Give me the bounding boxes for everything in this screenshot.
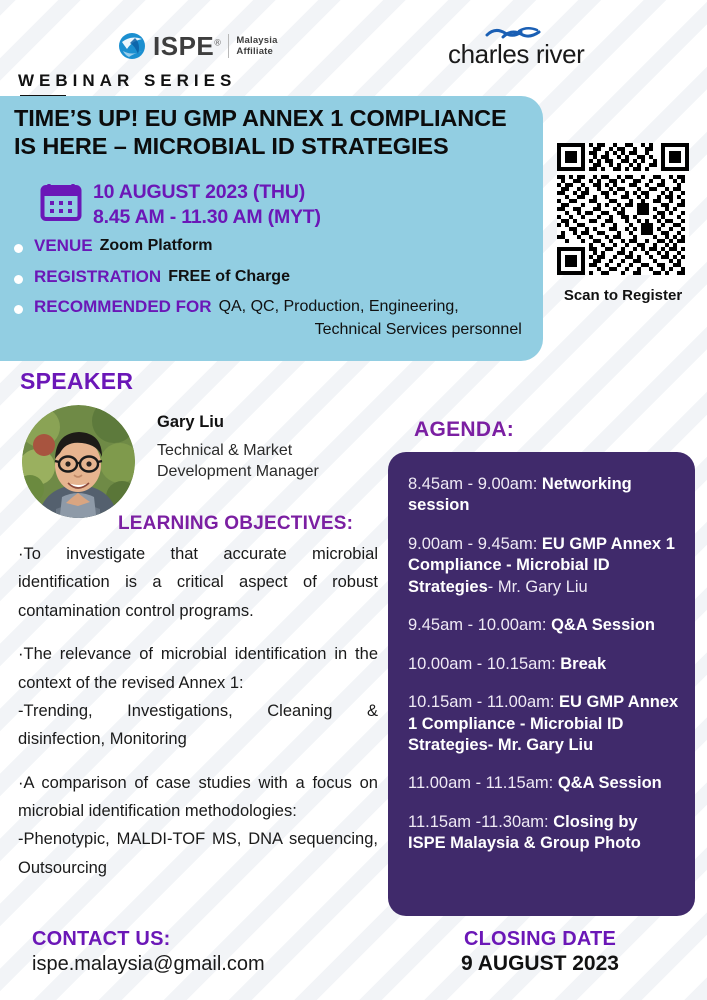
agenda-item: 11.00am - 11.15am: Q&A Session (408, 773, 679, 794)
info-row-venue: VENUE Zoom Platform (14, 234, 539, 259)
closing-date-heading: CLOSING DATE (400, 928, 680, 951)
bullet-icon (14, 305, 23, 314)
agenda-item: 9.00am - 9.45am: EU GMP Annex 1 Complian… (408, 534, 679, 598)
objective-item: ·To investigate that accurate microbial … (18, 540, 378, 625)
wave-icon (448, 26, 584, 40)
info-label-registration: REGISTRATION (34, 265, 161, 290)
info-row-registration: REGISTRATION FREE of Charge (14, 265, 539, 290)
ispe-affiliate-text: Malaysia Affiliate (236, 35, 277, 57)
agenda-time: 10.15am - 11.00am: (408, 693, 554, 711)
agenda-item: 10.15am - 11.00am: EU GMP Annex 1 Compli… (408, 692, 679, 756)
qr-caption: Scan to Register (557, 287, 689, 304)
agenda-time: 8.45am - 9.00am: (408, 475, 537, 493)
bullet-icon (14, 275, 23, 284)
objective-item: -Trending, Investigations, Cleaning & di… (18, 697, 378, 754)
ispe-logo: ISPE® Malaysia Affiliate (118, 32, 278, 60)
agenda-time: 10.00am - 10.15am: (408, 655, 556, 673)
contact-heading: CONTACT US: (32, 928, 170, 951)
flyer-page: ISPE® Malaysia Affiliate charles river W… (0, 0, 707, 1000)
agenda-time: 9.00am - 9.45am: (408, 535, 537, 553)
qr-code[interactable] (557, 143, 689, 275)
objective-item: -Phenotypic, MALDI-TOF MS, DNA sequencin… (18, 825, 378, 882)
speaker-heading: SPEAKER (20, 368, 133, 395)
closing-date-value: 9 AUGUST 2023 (400, 952, 680, 976)
agenda-item: 9.45am - 10.00am: Q&A Session (408, 615, 679, 636)
objective-item: ·A comparison of case studies with a foc… (18, 769, 378, 826)
agenda-time: 9.45am - 10.00am: (408, 616, 547, 634)
calendar-icon (40, 182, 82, 222)
charles-river-logo: charles river (448, 26, 584, 67)
ispe-wordmark: ISPE® (153, 33, 221, 59)
agenda-panel: 8.45am - 9.00am: Networking session 9.00… (388, 452, 695, 916)
ispe-registered-mark: ® (214, 37, 221, 47)
agenda-item: 11.15am -11.30am: Closing by ISPE Malays… (408, 812, 679, 855)
charles-river-wordmark: charles river (448, 41, 584, 67)
objective-item: ·The relevance of microbial identificati… (18, 640, 378, 697)
info-label-recommended: RECOMMENDED FOR (34, 295, 212, 320)
agenda-item: 10.00am - 10.15am: Break (408, 654, 679, 675)
learning-objectives-body: ·To investigate that accurate microbial … (18, 540, 378, 882)
info-value-venue: Zoom Platform (100, 234, 213, 257)
info-value-registration: FREE of Charge (168, 265, 290, 288)
agenda-time: 11.00am - 11.15am: (408, 774, 553, 792)
webinar-series-label: WEBINAR SERIES (18, 71, 236, 91)
agenda-heading: AGENDA: (414, 418, 514, 442)
learning-objectives-heading: LEARNING OBJECTIVES: (118, 513, 353, 535)
speaker-name: Gary Liu (157, 413, 224, 432)
info-row-recommended: RECOMMENDED FOR QA, QC, Production, Engi… (14, 295, 539, 341)
speaker-avatar (22, 405, 135, 518)
logo-bar: ISPE® Malaysia Affiliate charles river (0, 16, 707, 68)
info-value-recommended-line2: Technical Services personnel (219, 318, 522, 341)
info-value-recommended: QA, QC, Production, Engineering, Technic… (219, 295, 522, 341)
qr-block: Scan to Register (557, 143, 689, 304)
agenda-suffix: - Mr. Gary Liu (488, 578, 588, 596)
speaker-role: Technical & Market Development Manager (157, 441, 372, 483)
info-label-venue: VENUE (34, 234, 93, 259)
contact-email[interactable]: ispe.malaysia@gmail.com (32, 953, 265, 976)
agenda-item: 8.45am - 9.00am: Networking session (408, 474, 679, 517)
agenda-time: 11.15am -11.30am: (408, 813, 549, 831)
agenda-title: Break (560, 655, 606, 673)
event-info-list: VENUE Zoom Platform REGISTRATION FREE of… (14, 234, 539, 348)
logo-divider (228, 34, 229, 58)
hero-panel: TIME’S UP! EU GMP ANNEX 1 COMPLIANCE IS … (0, 96, 543, 361)
bullet-icon (14, 244, 23, 253)
ispe-globe-icon (118, 32, 146, 60)
agenda-title: Q&A Session (558, 774, 662, 792)
page-title: TIME’S UP! EU GMP ANNEX 1 COMPLIANCE IS … (14, 104, 529, 160)
event-datetime: 10 AUGUST 2023 (THU) 8.45 AM - 11.30 AM … (93, 180, 321, 230)
agenda-title: Q&A Session (551, 616, 655, 634)
event-date-row: 10 AUGUST 2023 (THU) 8.45 AM - 11.30 AM … (40, 180, 321, 230)
